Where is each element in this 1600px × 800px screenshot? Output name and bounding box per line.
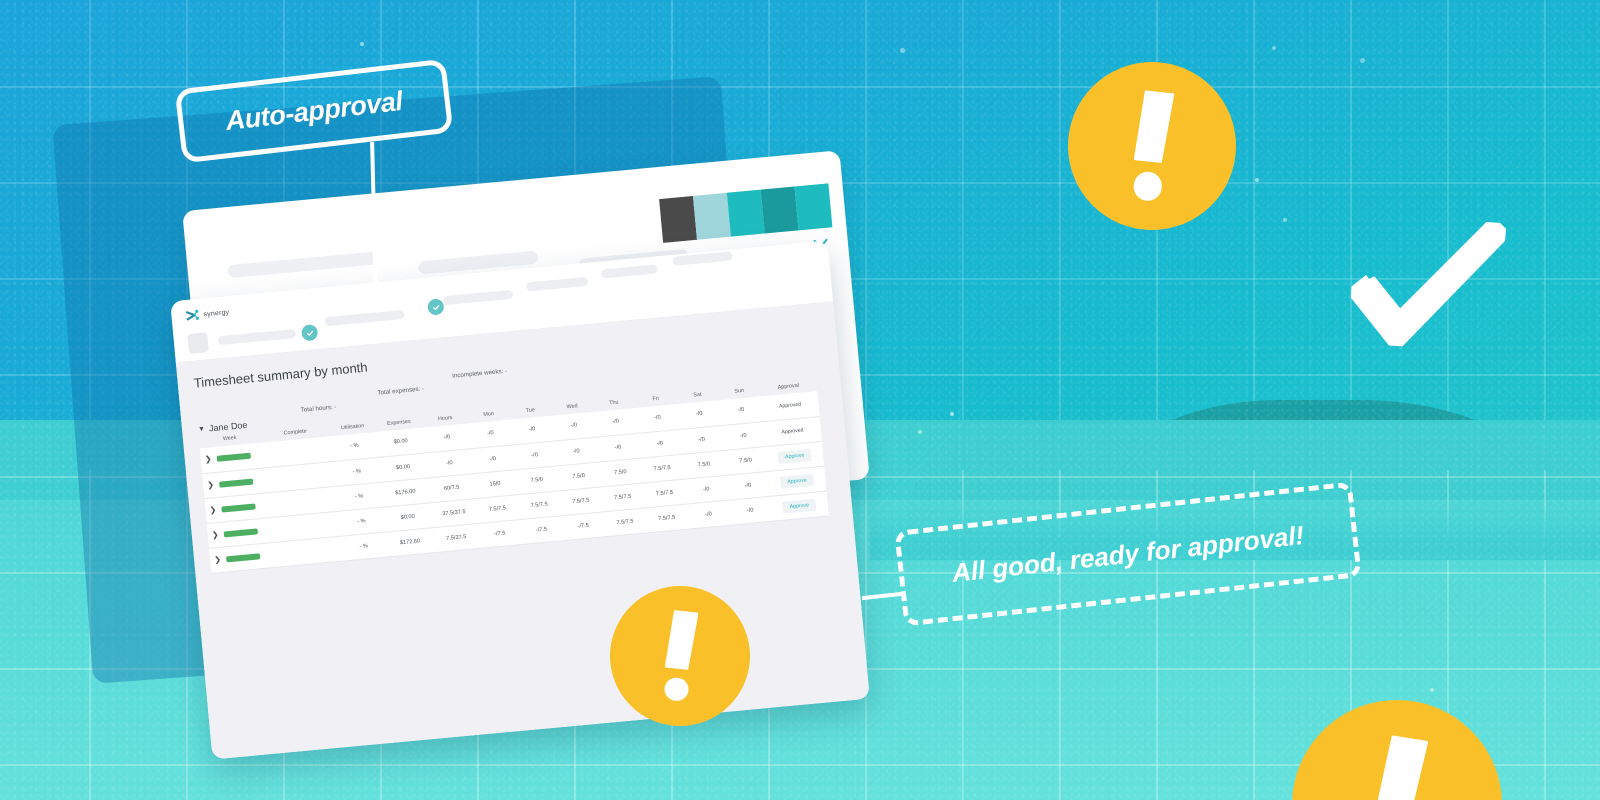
cell-mon: -/7.5 — [478, 519, 522, 548]
cell-expenses: $172.60 — [385, 527, 435, 556]
speck — [1360, 58, 1365, 63]
week-progress-bar — [216, 453, 250, 462]
cell-wed: -/7.5 — [561, 511, 605, 540]
swatch-4[interactable] — [795, 183, 833, 230]
cell-fri: 7.5/7.5 — [645, 504, 689, 533]
exclamation-bar — [1134, 90, 1175, 164]
chevron-right-icon[interactable]: ❯ — [209, 506, 216, 515]
toolbar-field-placeholder[interactable] — [526, 277, 589, 292]
swatch-1[interactable] — [693, 193, 731, 240]
synergy-node-icon — [185, 309, 201, 322]
chevron-right-icon[interactable]: ❯ — [207, 481, 214, 490]
exclamation-dot — [663, 676, 689, 702]
check-circle-icon[interactable] — [427, 298, 444, 315]
exclamation-bar — [665, 609, 699, 670]
speck — [1430, 688, 1434, 692]
speck — [1283, 218, 1287, 222]
speck — [900, 48, 905, 53]
cell-week[interactable]: ❯ — [209, 542, 272, 573]
speck — [1255, 178, 1259, 182]
swatch-0[interactable] — [659, 196, 697, 243]
swatch-2[interactable] — [727, 190, 765, 237]
week-progress-bar — [221, 503, 255, 512]
speck — [1272, 46, 1276, 50]
cell-thu: 7.5/7.5 — [603, 508, 647, 537]
chevron-right-icon[interactable]: ❯ — [212, 531, 219, 540]
cell-tue: -/7.5 — [519, 515, 563, 544]
placeholder-bar — [227, 251, 378, 278]
exclamation-dot — [1132, 170, 1163, 201]
callout-ready-text: All good, ready for approval! — [950, 519, 1305, 588]
week-progress-bar — [223, 528, 257, 537]
cell-utilisation: - % — [340, 532, 387, 561]
app-logo-text: synergy — [203, 309, 229, 318]
approve-button[interactable]: Approve — [778, 448, 812, 463]
toolbar-field-placeholder[interactable] — [601, 264, 658, 278]
speck — [918, 430, 922, 434]
stat-total-expenses: Total expenses: - — [377, 385, 424, 396]
speck — [950, 412, 954, 416]
triangle-down-icon[interactable]: ▼ — [198, 425, 206, 433]
chevron-right-icon[interactable]: ❯ — [214, 555, 221, 564]
toolbar-icon-placeholder[interactable] — [187, 332, 209, 354]
toolbar-field-placeholder[interactable] — [324, 310, 404, 326]
toolbar-field-placeholder[interactable] — [443, 290, 514, 305]
application-window: synergy Timesheet summary by month Total… — [170, 241, 870, 760]
approved-label: Approved — [779, 402, 802, 410]
toolbar-field-placeholder[interactable] — [218, 329, 296, 345]
page-content: Timesheet summary by month Total hours: … — [176, 302, 870, 759]
app-logo[interactable]: synergy — [185, 306, 230, 322]
cell-sat: -/0 — [686, 500, 730, 529]
approved-label: Approved — [781, 427, 804, 435]
exclamation-bar — [1373, 734, 1428, 800]
speck — [360, 42, 364, 46]
approve-button[interactable]: Approve — [782, 498, 816, 513]
swatch-3[interactable] — [761, 187, 799, 234]
check-circle-icon[interactable] — [301, 324, 318, 341]
checkmark-icon — [1348, 213, 1507, 353]
approve-button[interactable]: Approve — [780, 473, 814, 488]
toolbar-field-placeholder[interactable] — [672, 251, 733, 266]
cell-approval[interactable]: Approve — [770, 491, 829, 521]
illustration-canvas: synergy Timesheet summary by month Total… — [0, 0, 1600, 800]
week-progress-bar — [226, 553, 260, 562]
week-progress-bar — [219, 478, 253, 487]
color-swatch-row[interactable] — [659, 183, 832, 243]
stat-incomplete-weeks: Incomplete weeks: - — [452, 368, 507, 380]
cell-complete — [270, 536, 342, 567]
chevron-right-icon[interactable]: ❯ — [205, 456, 212, 465]
callout-auto-approval-text: Auto-approval — [224, 85, 404, 136]
cell-sun: -/0 — [728, 496, 772, 525]
cell-hours: 7.5/37.5 — [433, 523, 480, 552]
